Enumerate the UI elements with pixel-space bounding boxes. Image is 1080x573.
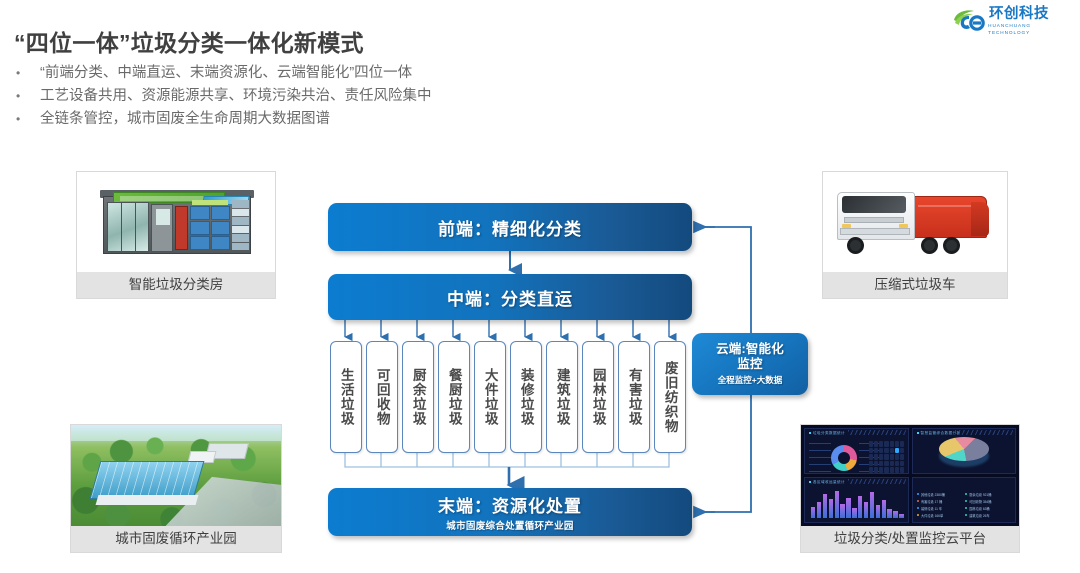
category-label: 建筑垃圾 <box>554 368 570 426</box>
flow-bar-title: 末端：资源化处置 <box>438 492 582 517</box>
category-box: 建筑垃圾 <box>546 341 578 453</box>
photo-caption: 智能垃圾分类房 <box>77 272 275 298</box>
bullet-marker: • <box>16 62 40 85</box>
dashboard-panel-3dpie: 智慧监管综合数据分析 <box>912 428 1017 474</box>
legend-item: 大件垃圾 166单 <box>917 512 964 518</box>
photo-caption: 城市固废循环产业园 <box>71 526 281 552</box>
brand-name-cn: 环创科技 <box>989 7 1072 22</box>
flow-bar-front-end: 前端：精细化分类 <box>328 203 692 251</box>
hc-swoosh-logo-icon <box>952 8 986 34</box>
category-label: 厨余垃圾 <box>410 368 426 426</box>
legend-item: 厨余垃圾 921桶 <box>965 491 1012 497</box>
category-box: 生活垃圾 <box>330 341 362 453</box>
page-title: “四位一体”垃圾分类一体化新模式 <box>14 24 364 58</box>
bullet-marker: • <box>16 108 40 131</box>
photo-card-smart-room: 智能垃圾分类房 <box>76 171 276 299</box>
flow-box-cloud-monitoring: 云端:智能化 监控 全程监控+大数据 <box>692 333 808 395</box>
photo-caption: 压缩式垃圾车 <box>823 272 1007 298</box>
legend-item: 其他垃圾 2380桶 <box>917 491 964 497</box>
legend-item: 建筑垃圾 26车 <box>965 512 1012 518</box>
category-label: 可回收物 <box>374 368 390 426</box>
cloud-title-line1: 云端:智能化 <box>716 342 784 357</box>
list-item: • “前端分类、中端直运、末端资源化、云端智能化”四位一体 <box>16 62 736 85</box>
photo-card-cloud-platform: 垃圾分类数据统计 智慧监管综合数据分析 各区域收运量统计 <box>800 424 1020 553</box>
category-box: 可回收物 <box>366 341 398 453</box>
category-box: 园林垃圾 <box>582 341 614 453</box>
dashboard-panel-pie: 垃圾分类数据统计 <box>804 428 909 474</box>
category-box: 废旧纺织物 <box>654 341 686 453</box>
dashboard-panel-bars: 各区域收运量统计 <box>804 477 909 523</box>
photo-card-truck: 压缩式垃圾车 <box>822 171 1008 299</box>
legend-item: 园林垃圾 63桶 <box>965 505 1012 511</box>
brand-logo: 环创科技 HUANCHUANG TECHNOLOGY <box>952 6 1072 36</box>
list-item: • 工艺设备共用、资源能源共享、环境污染共治、责任风险集中 <box>16 85 736 108</box>
category-box: 厨余垃圾 <box>402 341 434 453</box>
cloud-subtitle: 全程监控+大数据 <box>718 374 782 386</box>
bullet-text: “前端分类、中端直运、末端资源化、云端智能化”四位一体 <box>40 62 412 85</box>
category-box: 大件垃圾 <box>474 341 506 453</box>
compactor-garbage-truck-photo <box>823 172 1007 272</box>
industrial-park-aerial-photo <box>71 425 281 526</box>
bullet-text: 全链条管控，城市固废全生命周期大数据图谱 <box>40 108 330 131</box>
legend-item: 装修垃圾 11 车 <box>917 505 964 511</box>
category-label: 装修垃圾 <box>518 368 534 426</box>
category-label: 餐厨垃圾 <box>446 368 462 426</box>
category-label: 废旧纺织物 <box>662 361 678 434</box>
bullet-marker: • <box>16 85 40 108</box>
bullet-list: • “前端分类、中端直运、末端资源化、云端智能化”四位一体 • 工艺设备共用、资… <box>16 62 736 131</box>
bullet-text: 工艺设备共用、资源能源共享、环境污染共治、责任风险集中 <box>40 85 432 108</box>
smart-sorting-room-photo <box>77 172 275 272</box>
category-label: 园林垃圾 <box>590 368 606 426</box>
flow-bar-back-end: 末端：资源化处置 城市固废综合处置循环产业园 <box>328 488 692 536</box>
photo-caption: 垃圾分类/处置监控云平台 <box>801 526 1019 552</box>
flow-bar-title: 中端：分类直运 <box>447 285 573 310</box>
category-label: 生活垃圾 <box>338 368 354 426</box>
category-box: 餐厨垃圾 <box>438 341 470 453</box>
flow-bar-subtitle: 城市固废综合处置循环产业园 <box>446 518 573 532</box>
dashboard-panel-legend: 其他垃圾 2380桶 厨余垃圾 921桶 有害垃圾 17 桶 可回收物 354桶… <box>912 477 1017 523</box>
dashboard-panel-title: 垃圾分类数据统计 <box>809 431 845 436</box>
monitoring-dashboard-photo: 垃圾分类数据统计 智慧监管综合数据分析 各区域收运量统计 <box>801 425 1019 526</box>
dashboard-panel-title: 智慧监管综合数据分析 <box>917 431 961 436</box>
dashboard-panel-title: 各区域收运量统计 <box>809 480 845 485</box>
legend-item: 可回收物 354桶 <box>965 498 1012 504</box>
brand-name-en: HUANCHUANG TECHNOLOGY <box>988 22 1073 36</box>
flow-bar-title: 前端：精细化分类 <box>438 215 582 240</box>
cloud-title-line2: 监控 <box>737 357 762 372</box>
list-item: • 全链条管控，城市固废全生命周期大数据图谱 <box>16 108 736 131</box>
photo-card-park: 城市固废循环产业园 <box>70 424 282 553</box>
category-box: 装修垃圾 <box>510 341 542 453</box>
category-label: 大件垃圾 <box>482 368 498 426</box>
legend-item: 有害垃圾 17 桶 <box>917 498 964 504</box>
category-label: 有害垃圾 <box>626 368 642 426</box>
flow-bar-middle-end: 中端：分类直运 <box>328 274 692 320</box>
category-box: 有害垃圾 <box>618 341 650 453</box>
